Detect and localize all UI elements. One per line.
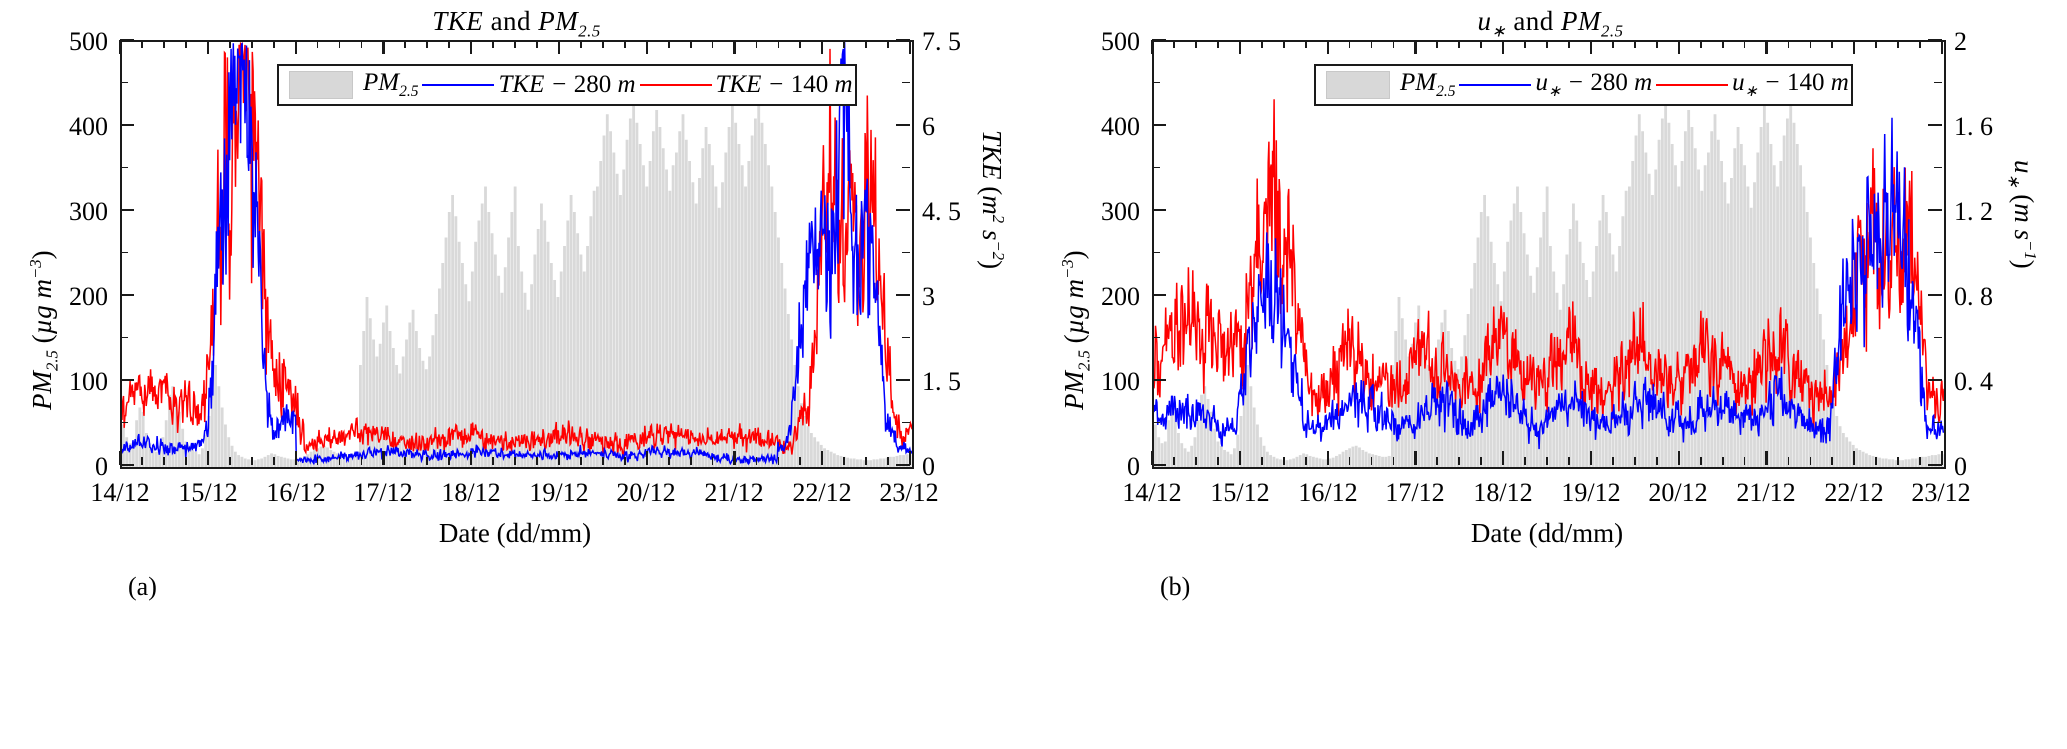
y-major-tick — [896, 464, 910, 466]
x-minor-tick — [1173, 40, 1175, 48]
y-major-tick — [120, 39, 134, 41]
x-minor-tick — [1744, 40, 1746, 48]
x-minor-tick — [339, 40, 341, 48]
panel-a-ytick-400: 400 — [40, 112, 108, 142]
x-major-tick — [295, 451, 297, 465]
y-major-tick — [1152, 209, 1166, 211]
x-minor-tick — [185, 457, 187, 465]
x-minor-tick — [1371, 457, 1373, 465]
x-minor-tick — [668, 40, 670, 48]
x-major-tick — [1327, 40, 1329, 54]
panel-b-y2tick-1p6: 1. 6 — [1954, 112, 1993, 142]
x-minor-tick — [1831, 457, 1833, 465]
y-major-tick — [120, 294, 134, 296]
x-major-tick — [1941, 40, 1943, 54]
x-minor-tick — [1436, 457, 1438, 465]
panel-a-ytick-500: 500 — [40, 27, 108, 57]
panel-b-y2tick-2: 2 — [1954, 27, 1967, 57]
x-minor-tick — [514, 457, 516, 465]
x-minor-tick — [229, 457, 231, 465]
panel-b-y2tick-0p4: 0. 4 — [1954, 367, 1993, 397]
y-major-tick — [1928, 209, 1942, 211]
x-minor-tick — [1919, 40, 1921, 48]
y-major-tick — [120, 209, 134, 211]
panel-a-y2tick-1p5: 1. 5 — [922, 367, 961, 397]
x-minor-tick — [1261, 457, 1263, 465]
x-minor-tick — [141, 457, 143, 465]
x-minor-tick — [163, 40, 165, 48]
x-minor-tick — [712, 457, 714, 465]
panel-a-yaxis2-title: TKE (m2 s−2) — [976, 130, 1008, 269]
x-minor-tick — [1524, 40, 1526, 48]
y-major-tick — [896, 124, 910, 126]
legend-label-pm25: PM2.5 — [361, 69, 420, 101]
y-minor-tick — [1934, 337, 1942, 339]
x-major-tick — [1678, 451, 1680, 465]
x-minor-tick — [361, 40, 363, 48]
legend-item-pm25[interactable]: PM2.5 — [279, 69, 420, 101]
x-minor-tick — [1919, 457, 1921, 465]
x-minor-tick — [690, 40, 692, 48]
x-minor-tick — [1546, 457, 1548, 465]
x-minor-tick — [141, 40, 143, 48]
x-minor-tick — [317, 40, 319, 48]
panel-b: u∗ and PM2.5 0 100 200 300 400 500 0 0. … — [1034, 0, 2067, 749]
blue-line-swatch-icon — [1459, 84, 1531, 86]
x-minor-tick — [1634, 40, 1636, 48]
panel-a-yaxis-title: PM2.5 (µg m−3) — [26, 250, 62, 410]
x-major-tick — [1590, 451, 1592, 465]
x-minor-tick — [1568, 40, 1570, 48]
x-minor-tick — [1897, 40, 1899, 48]
panel-a-y2tick-3: 3 — [922, 282, 935, 312]
x-minor-tick — [887, 40, 889, 48]
y-minor-tick — [120, 252, 128, 254]
legend-label-ustar-280: u∗ − 280 m — [1533, 69, 1654, 101]
x-minor-tick — [426, 40, 428, 48]
y-major-tick — [1152, 39, 1166, 41]
x-major-tick — [821, 451, 823, 465]
y-minor-tick — [1152, 337, 1160, 339]
y-major-tick — [1928, 39, 1942, 41]
x-minor-tick — [339, 457, 341, 465]
x-major-tick — [382, 451, 384, 465]
panel-a-legend[interactable]: PM2.5 TKE − 280 m TKE − 140 m — [277, 64, 857, 106]
y-major-tick — [1152, 294, 1166, 296]
x-minor-tick — [624, 40, 626, 48]
panel-b-id: (b) — [1160, 572, 1190, 602]
x-minor-tick — [1831, 40, 1833, 48]
x-minor-tick — [1458, 457, 1460, 465]
y-major-tick — [1928, 379, 1942, 381]
x-minor-tick — [1810, 40, 1812, 48]
x-minor-tick — [229, 40, 231, 48]
x-minor-tick — [492, 457, 494, 465]
figure: TKE and PM2.5 0 100 200 300 400 500 0 1.… — [0, 0, 2067, 749]
x-minor-tick — [1371, 40, 1373, 48]
legend-item-ustar-280[interactable]: u∗ − 280 m — [1457, 69, 1654, 101]
y-minor-tick — [1934, 82, 1942, 84]
x-major-tick — [909, 40, 911, 54]
legend-label-tke-280: TKE − 280 m — [496, 71, 637, 99]
x-minor-tick — [1700, 40, 1702, 48]
x-minor-tick — [1393, 40, 1395, 48]
x-minor-tick — [1436, 40, 1438, 48]
x-minor-tick — [185, 40, 187, 48]
x-minor-tick — [251, 40, 253, 48]
x-minor-tick — [580, 40, 582, 48]
x-minor-tick — [514, 40, 516, 48]
x-minor-tick — [778, 457, 780, 465]
legend-item-tke-140[interactable]: TKE − 140 m — [638, 71, 855, 99]
x-minor-tick — [1656, 457, 1658, 465]
x-minor-tick — [624, 457, 626, 465]
x-major-tick — [207, 40, 209, 54]
x-minor-tick — [1875, 457, 1877, 465]
legend-item-pm25[interactable]: PM2.5 — [1316, 69, 1457, 101]
x-major-tick — [646, 451, 648, 465]
x-major-tick — [1414, 451, 1416, 465]
x-major-tick — [295, 40, 297, 54]
legend-label-pm25: PM2.5 — [1398, 69, 1457, 101]
x-minor-tick — [843, 457, 845, 465]
y-major-tick — [1928, 294, 1942, 296]
x-minor-tick — [1612, 40, 1614, 48]
panel-b-ytick-500: 500 — [1072, 27, 1140, 57]
panel-a-xtick-9: 23/12 — [851, 478, 967, 508]
x-major-tick — [1590, 40, 1592, 54]
panel-a-xaxis-title: Date (dd/mm) — [320, 518, 710, 549]
x-minor-tick — [1568, 457, 1570, 465]
x-minor-tick — [1744, 457, 1746, 465]
x-minor-tick — [1875, 40, 1877, 48]
x-minor-tick — [1305, 457, 1307, 465]
x-minor-tick — [887, 457, 889, 465]
x-minor-tick — [448, 457, 450, 465]
y-minor-tick — [120, 337, 128, 339]
x-major-tick — [646, 40, 648, 54]
x-major-tick — [1239, 40, 1241, 54]
x-minor-tick — [1546, 40, 1548, 48]
bar-swatch-icon — [1326, 71, 1390, 99]
legend-label-tke-140: TKE − 140 m — [714, 71, 855, 99]
x-minor-tick — [273, 40, 275, 48]
x-minor-tick — [1261, 40, 1263, 48]
x-major-tick — [909, 451, 911, 465]
x-minor-tick — [1480, 40, 1482, 48]
x-major-tick — [119, 40, 121, 54]
y-minor-tick — [902, 167, 910, 169]
x-minor-tick — [1195, 457, 1197, 465]
panel-b-legend[interactable]: PM2.5 u∗ − 280 m u∗ − 140 m — [1314, 64, 1853, 106]
x-minor-tick — [580, 457, 582, 465]
x-minor-tick — [1283, 457, 1285, 465]
x-minor-tick — [1897, 457, 1899, 465]
x-minor-tick — [1195, 40, 1197, 48]
x-major-tick — [1853, 40, 1855, 54]
x-minor-tick — [690, 457, 692, 465]
y-major-tick — [1152, 124, 1166, 126]
y-minor-tick — [120, 167, 128, 169]
y-major-tick — [896, 379, 910, 381]
x-major-tick — [1765, 40, 1767, 54]
x-minor-tick — [1173, 457, 1175, 465]
y-major-tick — [120, 379, 134, 381]
panel-b-xaxis-title: Date (dd/mm) — [1352, 518, 1742, 549]
x-minor-tick — [778, 40, 780, 48]
x-minor-tick — [536, 40, 538, 48]
bar-swatch-icon — [289, 71, 353, 99]
x-minor-tick — [163, 457, 165, 465]
y-major-tick — [1928, 124, 1942, 126]
x-minor-tick — [404, 40, 406, 48]
x-minor-tick — [1788, 40, 1790, 48]
x-major-tick — [1327, 451, 1329, 465]
panel-a-y2tick-7p5: 7. 5 — [922, 27, 961, 57]
y-major-tick — [896, 294, 910, 296]
panel-b-yaxis-title: PM2.5 (µg m−3) — [1058, 250, 1094, 410]
x-minor-tick — [843, 40, 845, 48]
x-minor-tick — [1349, 457, 1351, 465]
x-minor-tick — [602, 457, 604, 465]
x-major-tick — [382, 40, 384, 54]
panel-a-title: TKE and PM2.5 — [0, 6, 1033, 41]
legend-label-ustar-140: u∗ − 140 m — [1730, 69, 1851, 101]
panel-a: TKE and PM2.5 0 100 200 300 400 500 0 1.… — [0, 0, 1033, 749]
y-minor-tick — [1152, 167, 1160, 169]
panel-a-id: (a) — [128, 572, 157, 602]
x-minor-tick — [1722, 457, 1724, 465]
y-minor-tick — [120, 82, 128, 84]
x-minor-tick — [1305, 40, 1307, 48]
x-minor-tick — [668, 457, 670, 465]
legend-item-tke-280[interactable]: TKE − 280 m — [420, 71, 637, 99]
red-line-swatch-icon — [1656, 84, 1728, 86]
x-minor-tick — [865, 40, 867, 48]
x-minor-tick — [492, 40, 494, 48]
x-major-tick — [821, 40, 823, 54]
x-minor-tick — [799, 40, 801, 48]
x-major-tick — [1239, 451, 1241, 465]
x-major-tick — [1678, 40, 1680, 54]
panel-b-ytick-300: 300 — [1072, 197, 1140, 227]
x-major-tick — [470, 451, 472, 465]
red-line-swatch-icon — [640, 84, 712, 86]
x-major-tick — [558, 40, 560, 54]
x-minor-tick — [536, 457, 538, 465]
x-minor-tick — [1810, 457, 1812, 465]
panel-b-title: u∗ and PM2.5 — [1034, 6, 2067, 41]
x-minor-tick — [602, 40, 604, 48]
x-minor-tick — [1722, 40, 1724, 48]
y-major-tick — [120, 124, 134, 126]
x-minor-tick — [1217, 40, 1219, 48]
blue-line-swatch-icon — [422, 84, 494, 86]
x-minor-tick — [865, 457, 867, 465]
panel-a-y2tick-4p5: 4. 5 — [922, 197, 961, 227]
x-minor-tick — [361, 457, 363, 465]
x-major-tick — [733, 451, 735, 465]
x-minor-tick — [1634, 457, 1636, 465]
y-major-tick — [1152, 464, 1166, 466]
y-major-tick — [896, 209, 910, 211]
legend-item-ustar-140[interactable]: u∗ − 140 m — [1654, 69, 1851, 101]
x-major-tick — [558, 451, 560, 465]
x-minor-tick — [1788, 457, 1790, 465]
x-minor-tick — [1524, 457, 1526, 465]
panel-b-yaxis2-title: u∗ (m s−1) — [2004, 160, 2040, 269]
x-minor-tick — [1700, 457, 1702, 465]
x-major-tick — [470, 40, 472, 54]
y-major-tick — [1152, 379, 1166, 381]
x-major-tick — [1765, 451, 1767, 465]
panel-a-ytick-300: 300 — [40, 197, 108, 227]
x-minor-tick — [712, 40, 714, 48]
x-minor-tick — [317, 457, 319, 465]
y-minor-tick — [1934, 422, 1942, 424]
x-major-tick — [1941, 451, 1943, 465]
y-major-tick — [120, 464, 134, 466]
x-major-tick — [119, 451, 121, 465]
x-minor-tick — [756, 457, 758, 465]
x-minor-tick — [404, 457, 406, 465]
x-minor-tick — [1612, 457, 1614, 465]
x-minor-tick — [251, 457, 253, 465]
y-major-tick — [896, 39, 910, 41]
panel-b-y2tick-0p8: 0. 8 — [1954, 282, 1993, 312]
x-minor-tick — [1393, 457, 1395, 465]
y-minor-tick — [120, 422, 128, 424]
x-minor-tick — [1458, 40, 1460, 48]
x-major-tick — [207, 451, 209, 465]
x-minor-tick — [799, 457, 801, 465]
y-minor-tick — [1152, 252, 1160, 254]
panel-b-xtick-9: 23/12 — [1883, 478, 1999, 508]
panel-b-ytick-400: 400 — [1072, 112, 1140, 142]
x-minor-tick — [426, 457, 428, 465]
y-minor-tick — [1152, 82, 1160, 84]
y-minor-tick — [1152, 422, 1160, 424]
y-major-tick — [1928, 464, 1942, 466]
panel-b-y2tick-1p2: 1. 2 — [1954, 197, 1993, 227]
y-minor-tick — [902, 252, 910, 254]
x-minor-tick — [273, 457, 275, 465]
x-minor-tick — [1656, 40, 1658, 48]
x-minor-tick — [1283, 40, 1285, 48]
panel-a-y2tick-6: 6 — [922, 112, 935, 142]
x-major-tick — [1151, 451, 1153, 465]
x-major-tick — [1502, 40, 1504, 54]
x-major-tick — [1853, 451, 1855, 465]
y-minor-tick — [902, 82, 910, 84]
x-minor-tick — [1217, 457, 1219, 465]
x-major-tick — [1502, 451, 1504, 465]
x-major-tick — [733, 40, 735, 54]
y-minor-tick — [902, 337, 910, 339]
x-minor-tick — [1349, 40, 1351, 48]
y-minor-tick — [902, 422, 910, 424]
x-minor-tick — [756, 40, 758, 48]
x-minor-tick — [448, 40, 450, 48]
x-minor-tick — [1480, 457, 1482, 465]
y-minor-tick — [1934, 252, 1942, 254]
x-major-tick — [1151, 40, 1153, 54]
y-minor-tick — [1934, 167, 1942, 169]
x-major-tick — [1414, 40, 1416, 54]
